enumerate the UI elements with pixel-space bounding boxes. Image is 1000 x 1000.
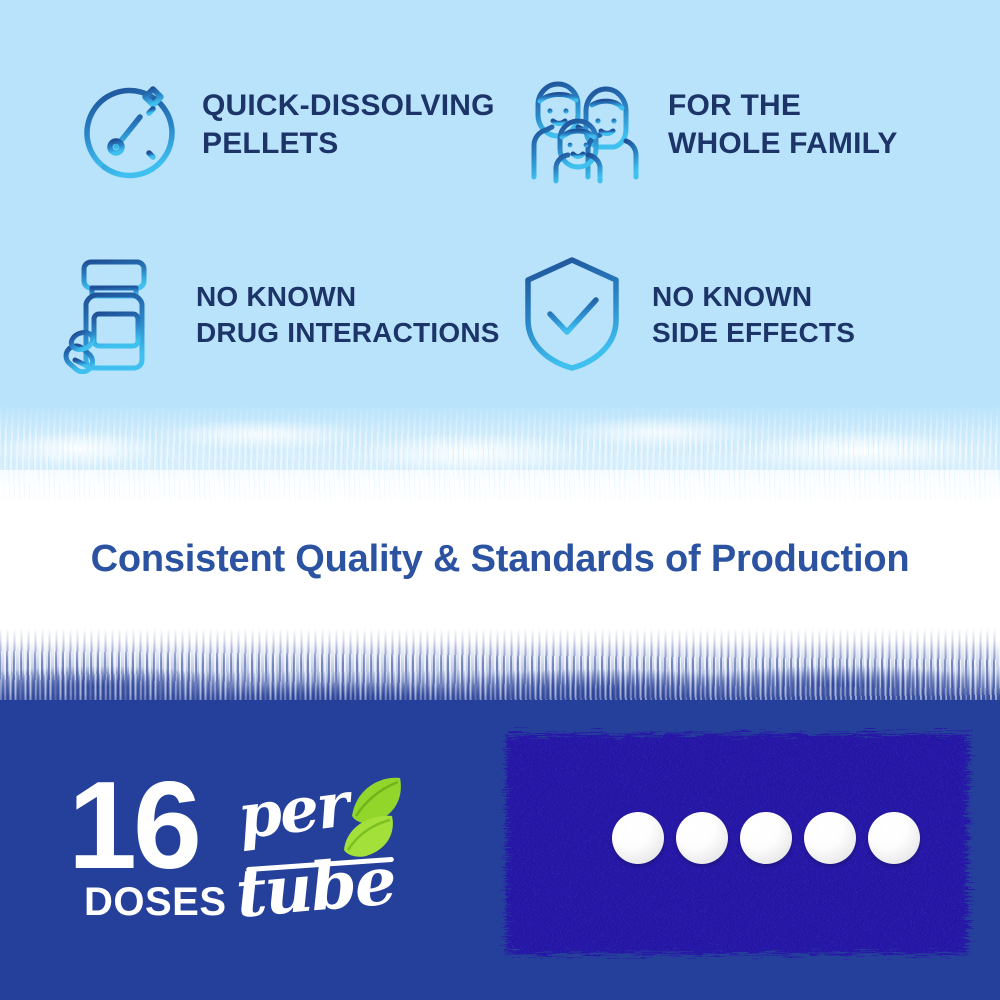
pellet-row [612,812,920,864]
doses-block: 16 DOSES per tube [68,768,488,928]
doses-count: 16 [68,764,198,888]
pellet-icon [804,812,856,864]
pill-bottle-icon [60,252,172,379]
shield-check-icon [516,252,628,379]
feature-label: QUICK-DISSOLVING PELLETS [202,87,495,164]
mint-leaf-icon [330,772,410,869]
pellet-icon [868,812,920,864]
feature-label: NO KNOWN SIDE EFFECTS [652,279,855,351]
pellet-icon [676,812,728,864]
feature-no-known-side-effects: NO KNOWN SIDE EFFECTS [516,220,972,410]
stopwatch-icon [60,63,178,188]
feature-for-the-whole-family: FOR THE WHOLE FAMILY [516,30,972,220]
feature-no-known-drug-interactions: NO KNOWN DRUG INTERACTIONS [60,220,516,410]
doses-unit-label: DOSES [84,880,227,925]
pellet-icon [740,812,792,864]
infographic-page: QUICK-DISSOLVING PELLETS [0,0,1000,1000]
banner-title: Consistent Quality & Standards of Produc… [0,538,1000,581]
feature-label: FOR THE WHOLE FAMILY [668,87,898,164]
family-icon [516,61,644,190]
feature-grid: QUICK-DISSOLVING PELLETS [0,0,1000,410]
feature-label: NO KNOWN DRUG INTERACTIONS [196,279,500,351]
feature-quick-dissolving-pellets: QUICK-DISSOLVING PELLETS [60,30,516,220]
pellet-icon [612,812,664,864]
